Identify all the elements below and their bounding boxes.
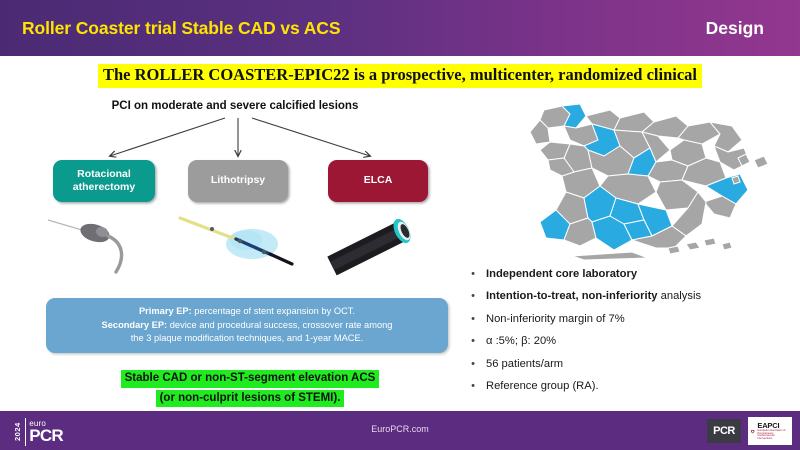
flow-arrows bbox=[40, 112, 460, 164]
pcr-logo-badge: PCR bbox=[707, 419, 741, 443]
trial-description-banner: The ROLLER COASTER-EPIC22 is a prospecti… bbox=[98, 64, 702, 88]
banner-container: The ROLLER COASTER-EPIC22 is a prospecti… bbox=[0, 64, 800, 88]
list-item: • Independent core laboratory bbox=[460, 268, 800, 281]
excimer-laser-catheter-image bbox=[332, 216, 414, 266]
treatment-box-elca[interactable]: ELCA bbox=[328, 160, 428, 202]
population-line1: Stable CAD or non-ST-segment elevation A… bbox=[121, 370, 380, 388]
treatment-boxes: Rotacional atherectomy Lithotripsy ELCA bbox=[40, 160, 460, 204]
bullet-icon: • bbox=[460, 335, 486, 348]
list-item-text: Reference group (RA). bbox=[486, 380, 599, 393]
eapci-logo: EAPCI European Association of Percutaneo… bbox=[748, 417, 792, 445]
section-label: Design bbox=[706, 18, 764, 39]
treatment-label: Rotacional atherectomy bbox=[73, 168, 135, 194]
footer-website: EuroPCR.com bbox=[0, 424, 800, 434]
bullet-icon: • bbox=[460, 313, 486, 326]
treatment-label: ELCA bbox=[364, 174, 393, 187]
bullet-icon: • bbox=[460, 358, 486, 371]
list-item: • Intention-to-treat, non-inferiority an… bbox=[460, 290, 800, 303]
shockwave-balloon-catheter-image bbox=[180, 218, 292, 264]
secondary-endpoint-text: device and procedural success, crossover… bbox=[167, 320, 392, 330]
flow-subtitle: PCI on moderate and severe calcified les… bbox=[0, 100, 470, 112]
eapci-subtitle: European Association of Percutaneous Car… bbox=[757, 430, 790, 440]
rotablator-burr-image bbox=[48, 220, 122, 272]
slide: Roller Coaster trial Stable CAD vs ACS D… bbox=[0, 0, 800, 450]
list-item-text: α :5%; β: 20% bbox=[486, 335, 556, 348]
secondary-endpoint-line2: the 3 plaque modification techniques, an… bbox=[131, 332, 364, 345]
bullet-icon: • bbox=[460, 380, 486, 393]
eapci-text: EAPCI European Association of Percutaneo… bbox=[757, 422, 790, 441]
spain-provinces-map bbox=[492, 100, 772, 262]
population-container: Stable CAD or non-ST-segment elevation A… bbox=[40, 368, 460, 407]
list-item: • 56 patients/arm bbox=[460, 358, 800, 371]
list-item-text: 56 patients/arm bbox=[486, 358, 563, 371]
treatment-box-rotational-atherectomy[interactable]: Rotacional atherectomy bbox=[53, 160, 155, 202]
list-item-rest: analysis bbox=[658, 290, 702, 302]
list-item-text: Independent core laboratory bbox=[486, 268, 637, 281]
treatment-label: Lithotripsy bbox=[211, 174, 265, 187]
list-item-bold: Intention-to-treat, non-inferiority bbox=[486, 290, 658, 302]
slide-header: Roller Coaster trial Stable CAD vs ACS D… bbox=[0, 0, 800, 56]
list-item: • Reference group (RA). bbox=[460, 380, 800, 393]
list-item: • α :5%; β: 20% bbox=[460, 335, 800, 348]
bullet-icon: • bbox=[460, 268, 486, 281]
bullet-icon: • bbox=[460, 290, 486, 303]
study-details-list: • Independent core laboratory • Intentio… bbox=[460, 268, 800, 402]
list-item: • Non-inferiority margin of 7% bbox=[460, 313, 800, 326]
population-line2: (or non-culprit lesions of STEMI). bbox=[156, 390, 345, 408]
list-item-bold: Independent core laboratory bbox=[486, 268, 637, 280]
secondary-endpoint-label: Secondary EP: bbox=[102, 320, 168, 330]
primary-endpoint-text: percentage of stent expansion by OCT. bbox=[192, 306, 355, 316]
list-item-text: Intention-to-treat, non-inferiority anal… bbox=[486, 290, 701, 303]
device-images bbox=[40, 206, 460, 282]
heart-icon bbox=[750, 425, 755, 438]
treatment-label-line2: atherectomy bbox=[73, 181, 135, 193]
secondary-endpoint-line: Secondary EP: device and procedural succ… bbox=[102, 319, 393, 332]
endpoints-box: Primary EP: percentage of stent expansio… bbox=[46, 298, 448, 353]
list-item-text: Non-inferiority margin of 7% bbox=[486, 313, 625, 326]
primary-endpoint-label: Primary EP: bbox=[139, 306, 192, 316]
treatment-box-lithotripsy[interactable]: Lithotripsy bbox=[188, 160, 288, 202]
primary-endpoint-line: Primary EP: percentage of stent expansio… bbox=[139, 305, 355, 318]
eapci-name: EAPCI bbox=[757, 422, 790, 430]
treatment-label-line1: Rotacional bbox=[77, 168, 131, 180]
page-title: Roller Coaster trial Stable CAD vs ACS bbox=[22, 18, 340, 39]
